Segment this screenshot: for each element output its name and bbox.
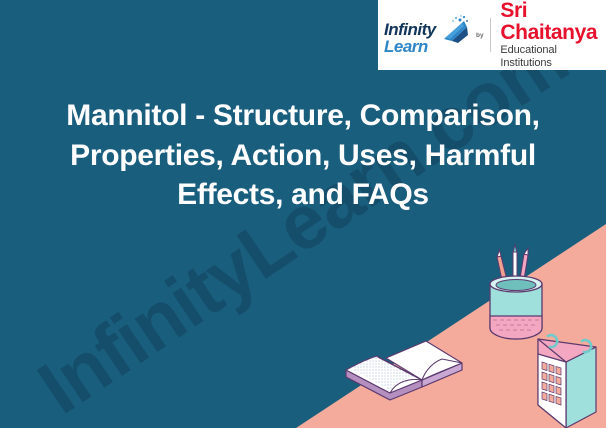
page-title-line-1: Mannitol - Structure, Comparison, — [16, 96, 590, 136]
infinity-learn-logo: Infinity Learn — [384, 11, 470, 59]
page-title: Mannitol - Structure, Comparison, Proper… — [0, 96, 606, 215]
bird-arrow-icon — [434, 13, 474, 53]
sri-chaitanya-subtitle: Educational Institutions — [500, 44, 606, 70]
infinity-learn-word-bottom: Learn — [384, 38, 428, 55]
page-title-line-3: Effects, and FAQs — [16, 175, 590, 215]
sri-chaitanya-logo: Sri Chaitanya Educational Institutions — [494, 0, 606, 70]
logo-inner: Infinity Learn by Sri Chaitanya — [384, 0, 606, 70]
logo-container: Infinity Learn by Sri Chaitanya — [378, 0, 606, 70]
infinity-learn-word-top: Infinity — [384, 21, 436, 38]
article-banner: InfinityLearn.com Infinity Learn — [0, 0, 606, 428]
page-title-line-2: Properties, Action, Uses, Harmful — [16, 136, 590, 176]
logo-divider — [490, 18, 491, 52]
sri-chaitanya-name: Sri Chaitanya — [500, 0, 606, 44]
by-label: by — [474, 32, 486, 39]
